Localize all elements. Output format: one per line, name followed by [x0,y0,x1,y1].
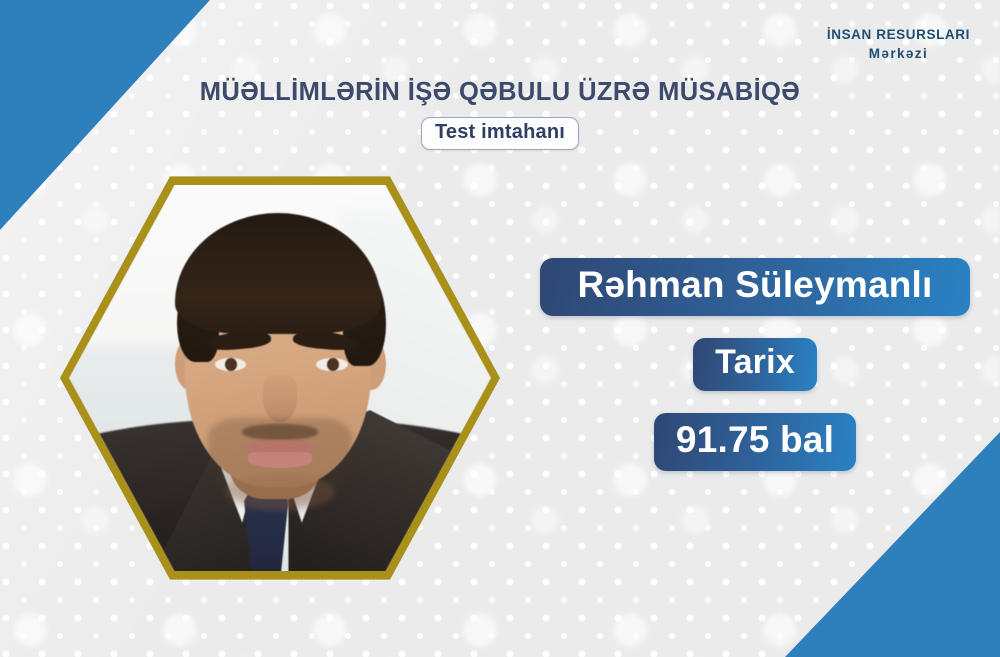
portrait-iris-right [327,358,339,371]
organization-logo: İNSAN RESURSLARI Mərkəzi [827,26,970,63]
candidate-name-badge: Rəhman Süleymanlı [540,258,970,316]
logo-line-1: İNSAN RESURSLARI [827,26,970,45]
portrait-chin-shadow [225,474,335,510]
result-poster: İNSAN RESURSLARI Mərkəzi MÜƏLLİMLƏRİN İŞ… [0,0,1000,657]
portrait-moustache [242,424,318,440]
subtitle-wrapper: Test imtahanı [0,117,1000,150]
logo-line-2: Mərkəzi [827,45,970,64]
page-title: MÜƏLLİMLƏRİN İŞƏ QƏBULU ÜZRƏ MÜSABİQƏ [0,78,1000,107]
subject-badge: Tarix [693,338,817,391]
exam-type-badge: Test imtahanı [421,117,579,150]
score-badge: 91.75 bal [654,413,856,471]
portrait-eye-left [215,358,247,371]
portrait-iris-left [225,358,237,371]
portrait-lower-lip [248,452,311,467]
heading-block: MÜƏLLİMLƏRİN İŞƏ QƏBULU ÜZRƏ MÜSABİQƏ Te… [0,78,1000,150]
hexagon-photo-clip [69,177,491,579]
candidate-photo-frame [60,168,500,588]
candidate-portrait [69,177,491,579]
portrait-eye-right [316,358,348,371]
portrait-nose [263,374,297,422]
result-badge-group: Rəhman Süleymanlı Tarix 91.75 bal [540,258,970,471]
